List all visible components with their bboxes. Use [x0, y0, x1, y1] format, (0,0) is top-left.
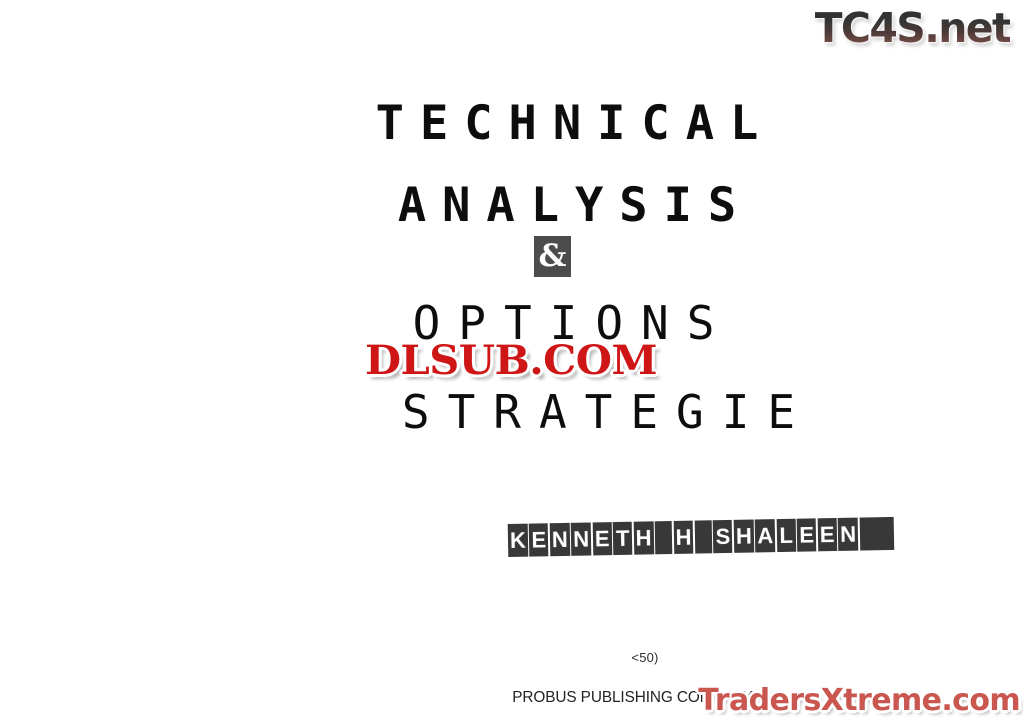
book-title-page: TECHNICAL ANALYSIS & OPTIONS STRATEGIE K… — [0, 0, 1024, 724]
author-name-tile: K — [508, 524, 528, 557]
author-name-tile — [695, 520, 713, 553]
author-name-tile: H — [734, 519, 754, 552]
author-name-tile: T — [613, 522, 633, 555]
author-name-tile: N — [571, 522, 591, 555]
page-number-artifact: <50) — [0, 650, 1024, 665]
author-name-tile — [655, 521, 673, 554]
author-name-tile: N — [550, 523, 570, 556]
author-name-tile: H — [673, 521, 693, 554]
author-name-tile: E — [797, 518, 817, 551]
watermark-tc4s-net: TC4S.net — [815, 4, 1010, 52]
book-title-line-strategie: STRATEGIE — [0, 386, 1024, 438]
author-name-tile: E — [592, 522, 612, 555]
book-title-line-analysis: ANALYSIS — [0, 180, 1024, 232]
watermark-dlsub-com: DLSUB.COM — [365, 338, 657, 384]
book-title-line-technical: TECHNICAL — [0, 98, 1024, 150]
author-name-tile: E — [817, 518, 837, 551]
author-name-banner: KENNETH H SHALEEN — [508, 517, 894, 557]
author-name-tile: S — [713, 520, 733, 553]
ampersand-badge: & — [534, 236, 571, 277]
author-name-tile — [859, 517, 894, 551]
author-name-tile: H — [633, 521, 653, 554]
author-name-tile: N — [838, 518, 858, 551]
watermark-tradersxtreme-com: TradersXtreme.com — [698, 683, 1020, 719]
author-name-tile: A — [755, 519, 775, 552]
author-name-tile: L — [776, 519, 796, 552]
author-name-tile: E — [529, 523, 549, 556]
